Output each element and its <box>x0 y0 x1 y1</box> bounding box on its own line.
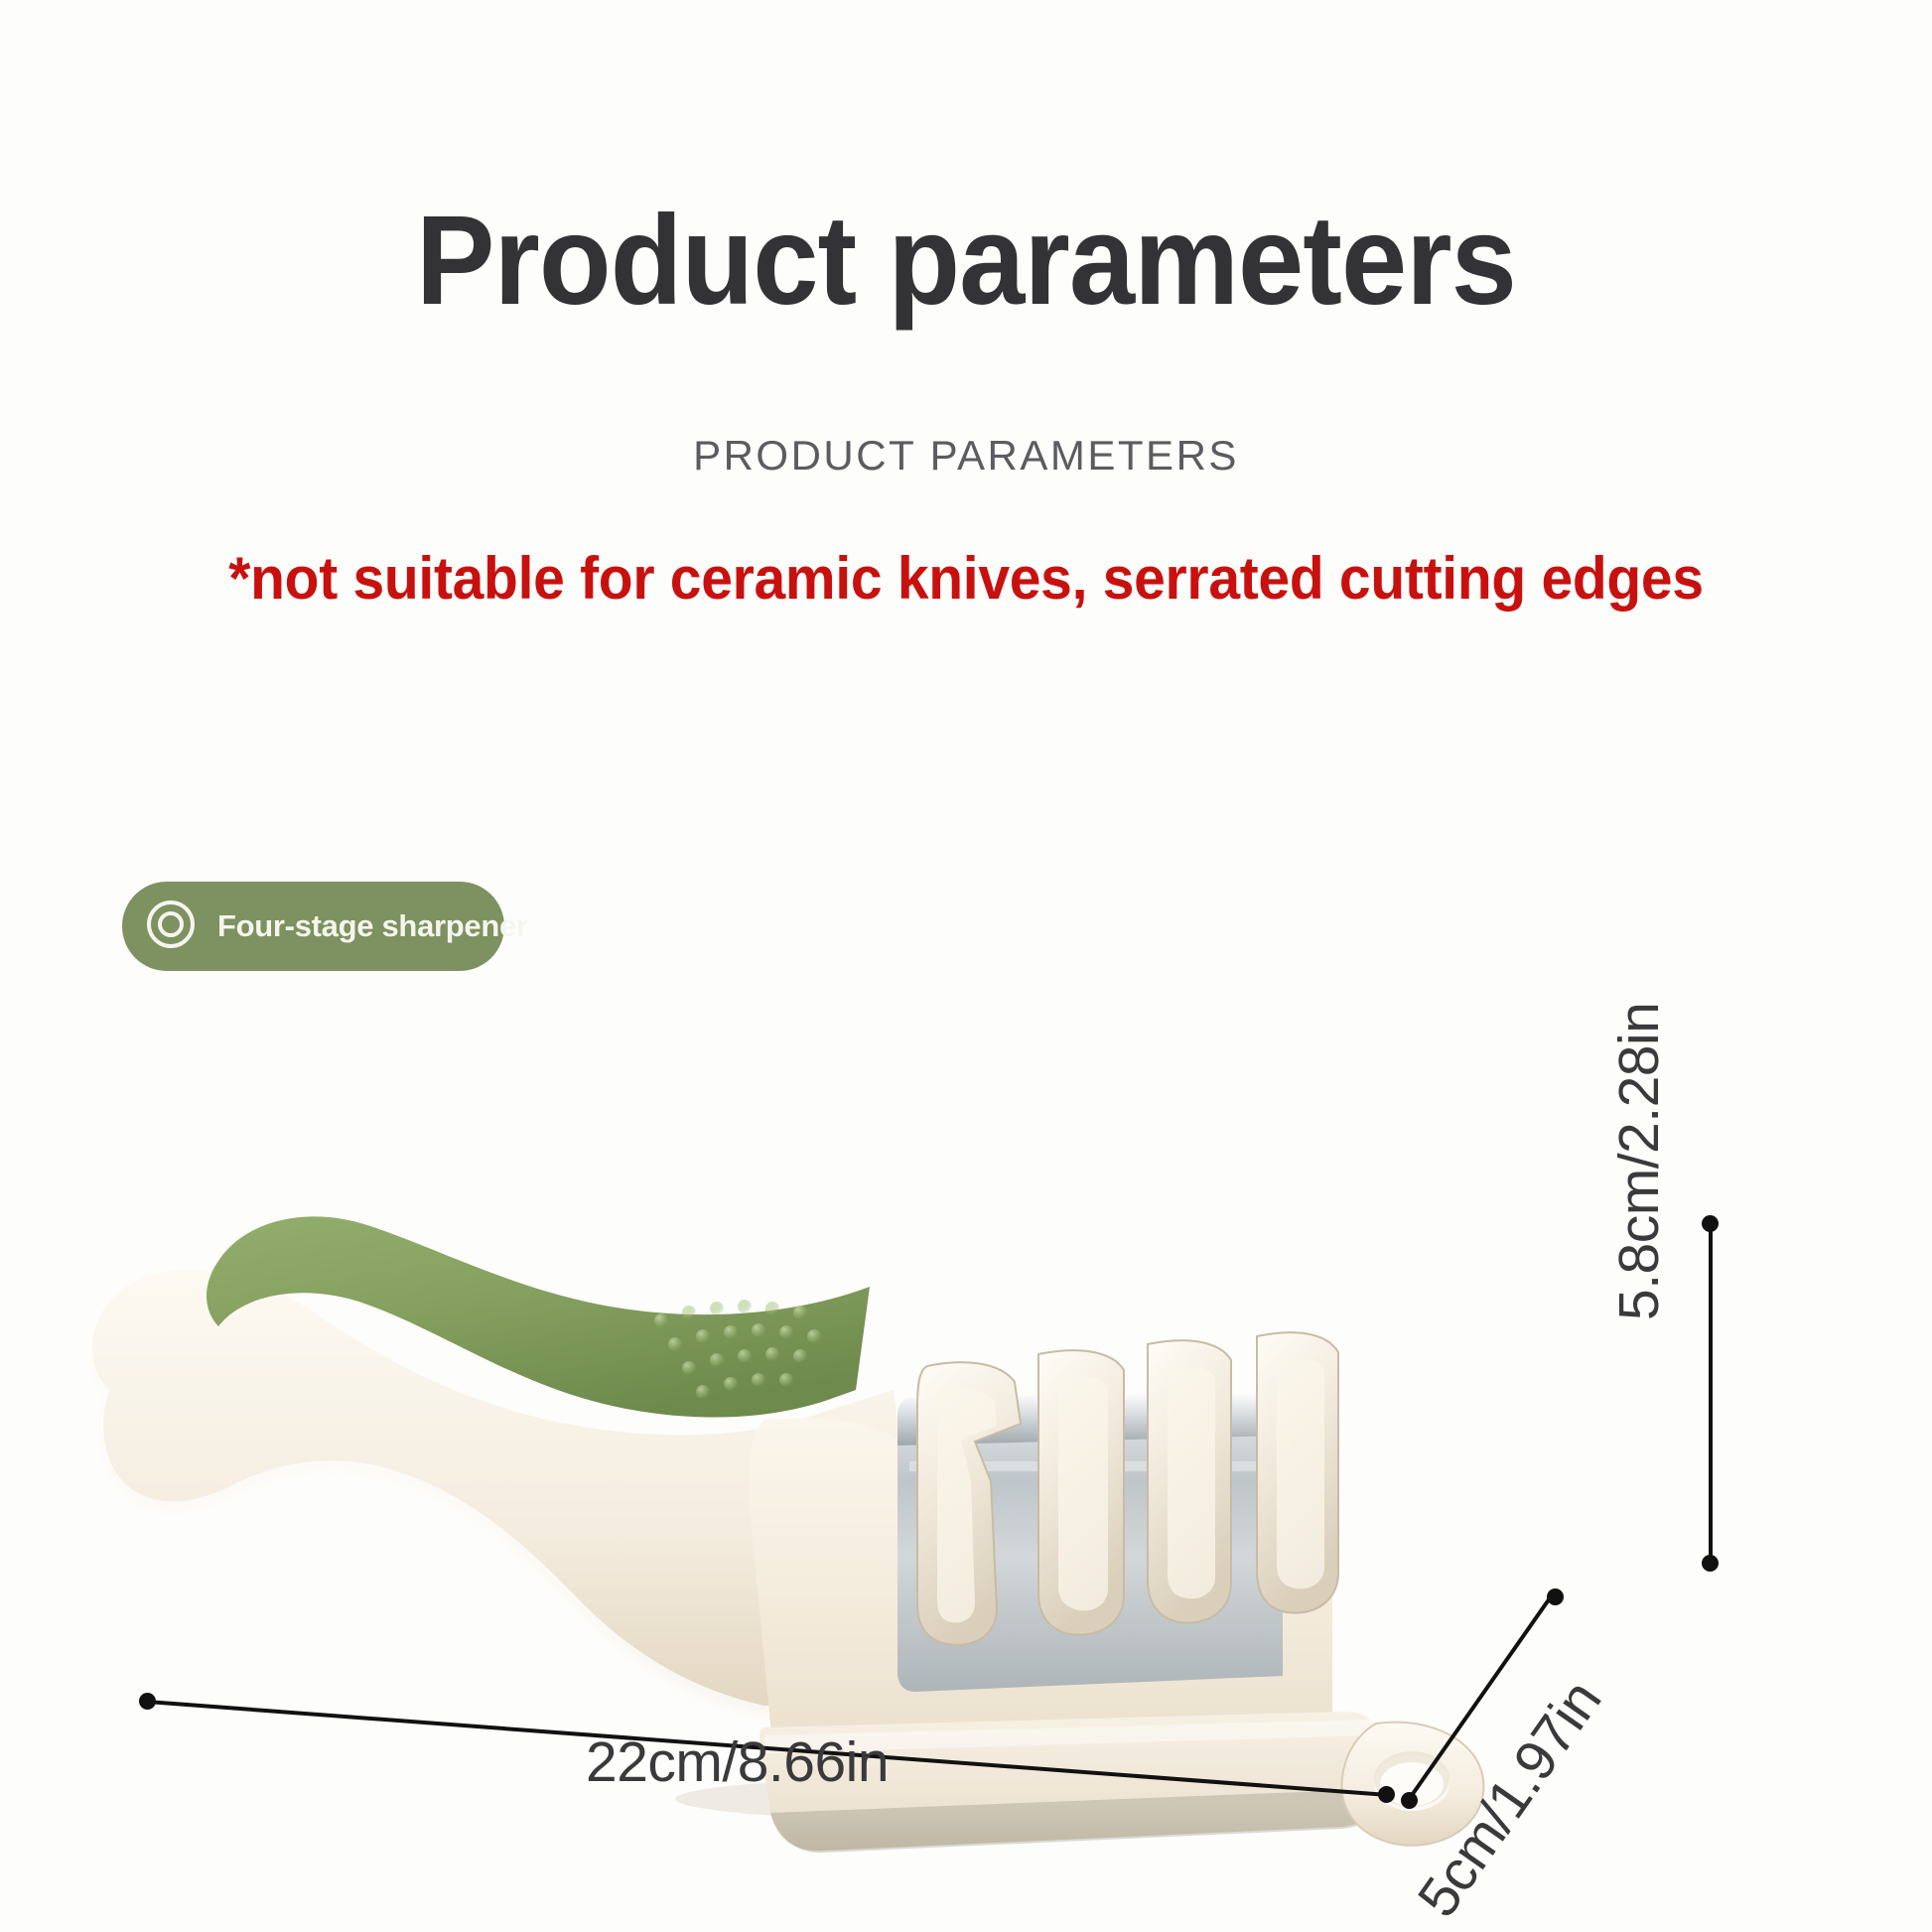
depth-dimension-endpoint-near <box>1401 1792 1418 1809</box>
height-dimension-endpoint-bottom <box>1702 1555 1719 1572</box>
width-dimension-endpoint-right <box>1378 1786 1395 1803</box>
feature-badge-label: Four-stage sharpener <box>217 908 528 944</box>
page-title: Product parameters <box>68 195 1864 328</box>
concentric-rings-icon <box>146 899 200 953</box>
height-dimension-line <box>1709 1223 1713 1563</box>
width-dimension-endpoint-left <box>139 1693 156 1710</box>
height-dimension-label: 5.8cm/2.28in <box>1606 1003 1672 1320</box>
height-dimension-endpoint-top <box>1702 1215 1719 1232</box>
width-dimension-label: 22cm/8.66in <box>586 1729 889 1795</box>
page-subtitle: PRODUCT PARAMETERS <box>0 432 1932 480</box>
compatibility-warning: *not suitable for ceramic knives, serrat… <box>49 544 1884 613</box>
feature-badge: Four-stage sharpener <box>122 882 504 971</box>
depth-dimension-endpoint-far <box>1547 1588 1564 1605</box>
product-parameters-infographic: Product parameters PRODUCT PARAMETERS *n… <box>0 0 1932 1932</box>
